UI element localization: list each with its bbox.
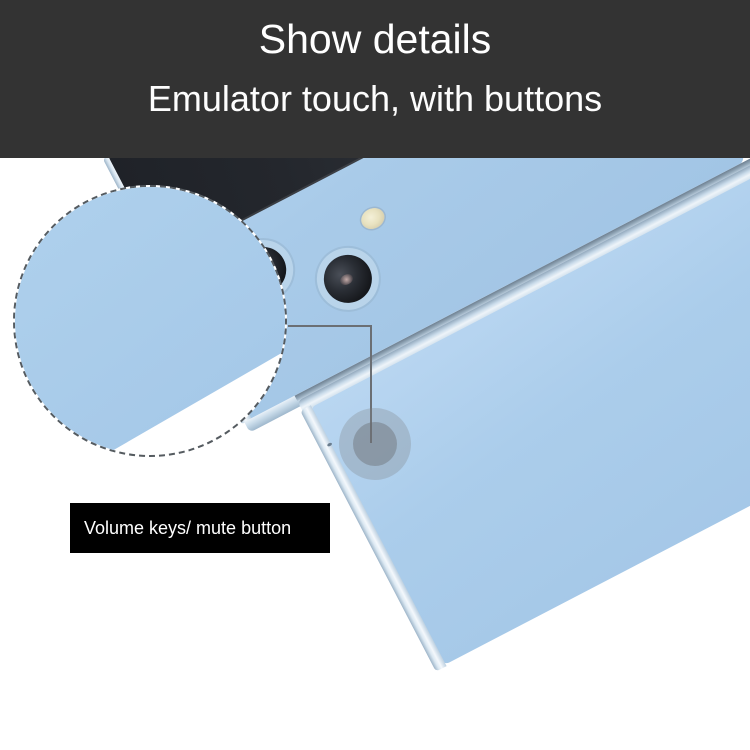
magnified-phone-edge [13,185,287,457]
magnifier-callout-circle [13,185,287,457]
callout-label-text: Volume keys/ mute button [84,517,291,539]
header-banner: Show details Emulator touch, with button… [0,0,750,158]
screenshot-stage: Show details Emulator touch, with button… [0,0,750,750]
page-title: Show details [0,14,750,64]
callout-leader-line-horizontal [288,325,372,327]
product-photo: 12:45 100% Wed, August 11 | | [0,158,750,750]
page-subtitle: Emulator touch, with buttons [0,76,750,122]
magnified-back-panel [13,185,287,457]
magnifier-content [13,185,287,457]
touch-indicator-inner-dot [353,422,397,466]
callout-label-box: Volume keys/ mute button [70,503,330,553]
